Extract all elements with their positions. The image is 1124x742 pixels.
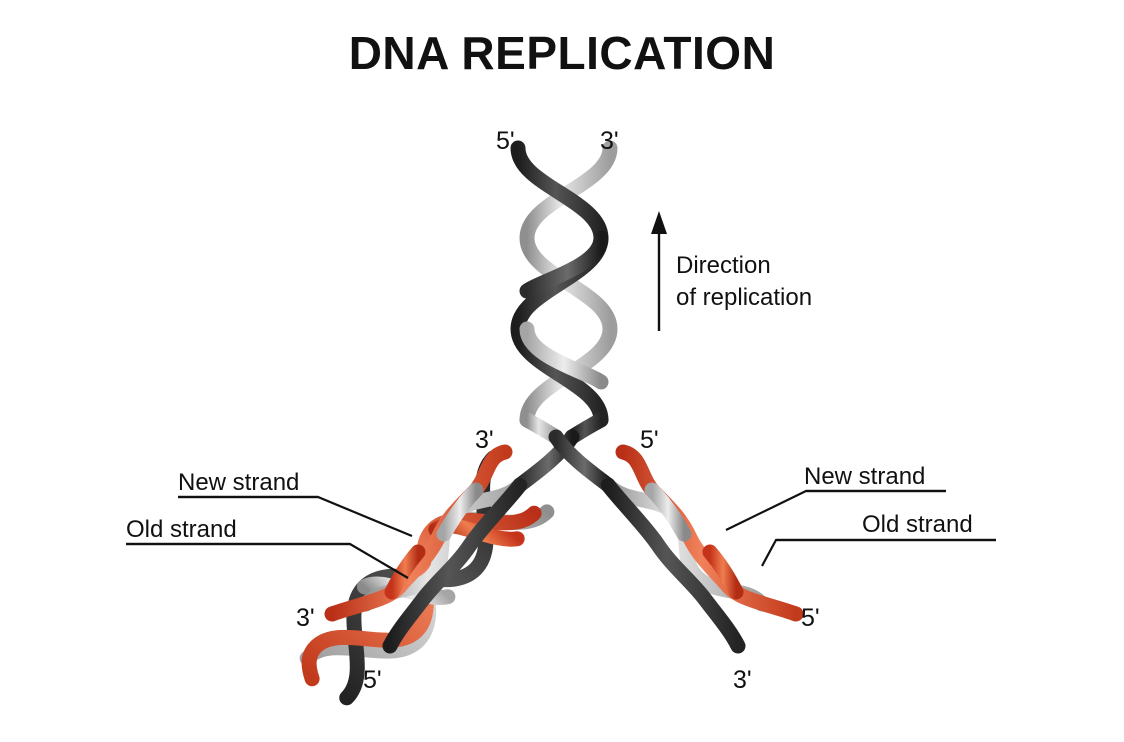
- prime-label-bottom-right-5: 5': [801, 606, 820, 631]
- direction-of-replication-label: Direction of replication: [676, 250, 812, 313]
- fork-right-old-strand: [556, 437, 608, 485]
- leader-right-old-strand: [762, 540, 996, 566]
- prime-label-top-right-3: 3': [600, 129, 619, 154]
- dna-illustration: [0, 0, 1124, 742]
- leader-left-old-strand: [126, 544, 408, 578]
- up-arrow: [651, 211, 667, 331]
- prime-label-fork-right-5: 5': [640, 428, 659, 453]
- parent-double-helix: [518, 148, 610, 437]
- prime-label-bottom-left-3: 3': [296, 606, 315, 631]
- prime-label-top-left-5: 5': [496, 129, 515, 154]
- dna-replication-figure: DNA REPLICATION: [0, 0, 1124, 742]
- prime-label-bottom-right-3: 3': [733, 668, 752, 693]
- right-branch-ribbons: [608, 452, 796, 646]
- label-right-new-strand: New strand: [804, 465, 925, 489]
- replication-fork-junction: [520, 437, 608, 485]
- prime-label-bottom-left-5: 5': [363, 668, 382, 693]
- label-left-new-strand: New strand: [178, 471, 299, 495]
- label-right-old-strand: Old strand: [862, 513, 973, 537]
- label-left-old-strand: Old strand: [126, 518, 237, 542]
- prime-label-fork-left-3: 3': [475, 428, 494, 453]
